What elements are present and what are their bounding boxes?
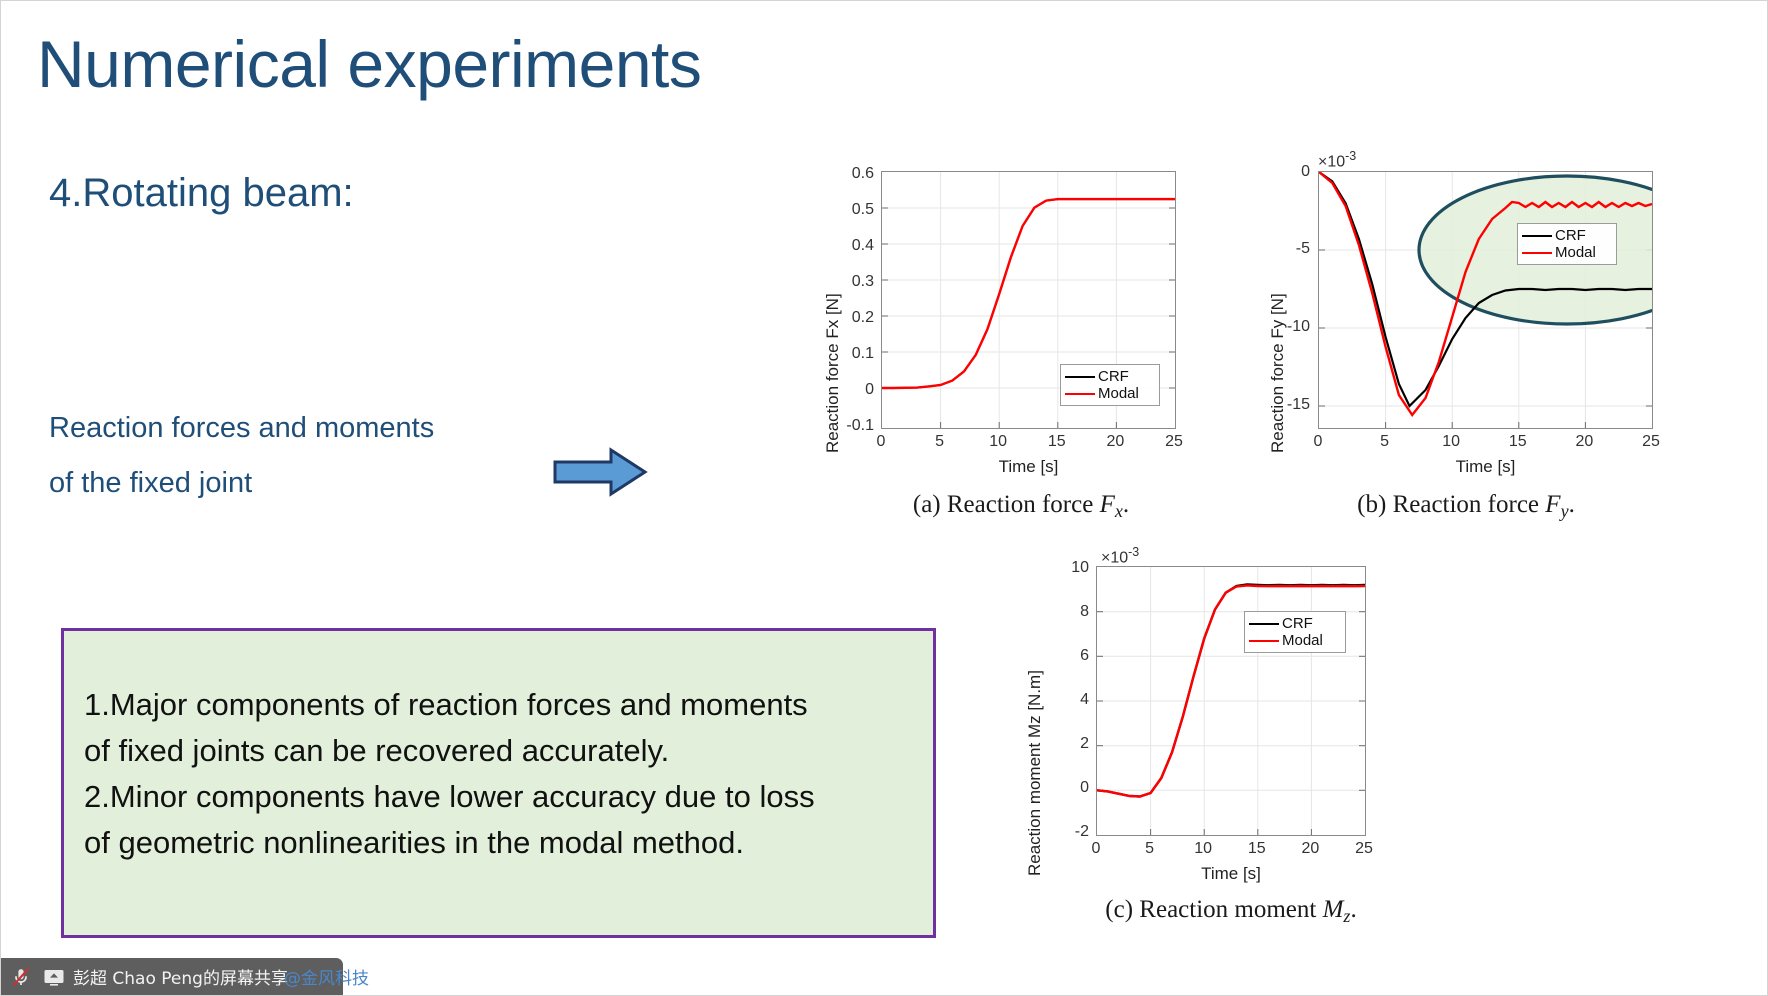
page-title: Numerical experiments	[37, 31, 701, 97]
figure-b-caption-sub: y	[1561, 501, 1569, 521]
figure-b-xtick: 15	[1502, 433, 1534, 451]
figure-a-xtick: 10	[982, 433, 1014, 451]
company-label: @金风科技	[284, 964, 369, 989]
legend-item-modal: Modal	[1522, 244, 1610, 261]
legend-swatch-modal	[1065, 393, 1095, 395]
legend-label-modal: Modal	[1555, 245, 1596, 260]
figure-c-ytick: 10	[1037, 559, 1089, 577]
figure-c-xtick: 20	[1294, 840, 1326, 858]
figure-c-xtick: 15	[1241, 840, 1273, 858]
figure-a-ytick: 0.5	[821, 201, 874, 219]
figure-b-xtick: 20	[1568, 433, 1600, 451]
conclusion-line-2: of fixed joints can be recovered accurat…	[84, 729, 920, 773]
figure-b-xtick: 5	[1369, 433, 1401, 451]
conclusion-line-1: 1.Major components of reaction forces an…	[84, 683, 920, 727]
figure-b-xtick: 0	[1302, 433, 1334, 451]
figure-c-plot-area: CRF Modal	[1096, 566, 1366, 836]
figure-a-ytick: 0.6	[821, 165, 874, 183]
figure-a-series-modal	[882, 199, 1175, 388]
screen-share-bar[interactable]: 彭超 Chao Peng的屏幕共享 @金风科技	[1, 958, 343, 995]
figure-a-plot-area: CRF Modal	[881, 171, 1176, 429]
figure-c-caption-symbol: M	[1323, 896, 1344, 923]
figure-a-xtick: 25	[1158, 433, 1190, 451]
figure-c-ytick: 6	[1037, 647, 1089, 665]
legend-label-modal: Modal	[1282, 633, 1323, 648]
legend-item-modal: Modal	[1065, 385, 1153, 402]
figure-b-ytick: -10	[1264, 318, 1310, 336]
figure-b-xlabel: Time [s]	[1318, 457, 1653, 477]
figure-a-caption: (a) Reaction force Fx.	[801, 491, 1241, 522]
legend-item-crf: CRF	[1249, 615, 1339, 632]
mic-muted-icon[interactable]	[7, 963, 35, 991]
figure-c-ytick: 8	[1037, 603, 1089, 621]
figure-c-xtick: 25	[1348, 840, 1380, 858]
figure-a-xlabel: Time [s]	[881, 457, 1176, 477]
figure-c-xlabel: Time [s]	[1096, 864, 1366, 884]
legend-label-crf: CRF	[1555, 228, 1586, 243]
figure-a-xtick: 15	[1041, 433, 1073, 451]
figure-a-caption-suffix: .	[1123, 491, 1129, 518]
figure-a-ytick: 0.2	[821, 309, 874, 327]
conclusion-line-4: of geometric nonlinearities in the modal…	[84, 821, 920, 865]
left-caption: Reaction forces and moments of the fixed…	[49, 401, 569, 511]
figure-a-caption-symbol: F	[1100, 491, 1115, 518]
figure-a-xtick: 0	[865, 433, 897, 451]
presenter-label: 彭超 Chao Peng的屏幕共享	[73, 964, 288, 989]
legend-swatch-crf	[1065, 376, 1095, 378]
figure-b-y-exponent: ×10-3	[1318, 149, 1356, 171]
figure-c-y-exponent: ×10-3	[1101, 545, 1139, 567]
legend-swatch-modal	[1249, 640, 1279, 642]
conclusion-line-3: 2.Minor components have lower accuracy d…	[84, 775, 920, 819]
section-subtitle: 4.Rotating beam:	[49, 171, 354, 216]
figure-a-legend: CRF Modal	[1060, 364, 1160, 406]
figure-b-legend: CRF Modal	[1517, 223, 1617, 265]
figure-a-xtick: 5	[924, 433, 956, 451]
figure-a-ytick: 0.3	[821, 273, 874, 291]
figure-a-caption-sub: x	[1115, 501, 1123, 521]
figure-a: Reaction force Fx [N] 0.6 0.5 0.4 0.3 0.…	[811, 171, 1231, 491]
figure-a-ytick: 0	[821, 381, 874, 399]
figure-b-caption-suffix: .	[1569, 491, 1575, 518]
figure-c-caption-prefix: (c) Reaction moment	[1105, 896, 1322, 923]
conclusion-text: 1.Major components of reaction forces an…	[84, 683, 920, 867]
figure-b-ytick: -5	[1264, 240, 1310, 258]
figure-c-xtick: 10	[1187, 840, 1219, 858]
figure-c: Reaction moment Mz [N.m] ×10-3 10 8 6 4 …	[1011, 566, 1451, 896]
figure-c-ytick: 4	[1037, 691, 1089, 709]
left-caption-line2: of the fixed joint	[49, 456, 569, 511]
legend-label-modal: Modal	[1098, 386, 1139, 401]
legend-label-crf: CRF	[1098, 369, 1129, 384]
figure-a-ytick: 0.4	[821, 237, 874, 255]
legend-swatch-crf	[1522, 235, 1552, 237]
right-arrow-icon	[553, 447, 648, 497]
figure-b-ytick: -15	[1264, 396, 1310, 414]
presentation-slide: Numerical experiments 4.Rotating beam: R…	[0, 0, 1768, 996]
figure-c-ytick: 2	[1037, 735, 1089, 753]
figure-a-xtick: 20	[1099, 433, 1131, 451]
figure-c-xtick: 0	[1080, 840, 1112, 858]
figure-b-xtick: 25	[1635, 433, 1667, 451]
legend-label-crf: CRF	[1282, 616, 1313, 631]
figure-b-plot-area: CRF Modal	[1318, 171, 1653, 429]
legend-swatch-modal	[1522, 252, 1552, 254]
legend-item-modal: Modal	[1249, 632, 1339, 649]
screen-share-icon[interactable]	[40, 963, 68, 991]
left-caption-line1: Reaction forces and moments	[49, 401, 569, 456]
figure-b-caption: (b) Reaction force Fy.	[1246, 491, 1686, 522]
figure-a-caption-prefix: (a) Reaction force	[913, 491, 1100, 518]
figure-b-caption-prefix: (b) Reaction force	[1357, 491, 1545, 518]
legend-item-crf: CRF	[1522, 227, 1610, 244]
figure-c-legend: CRF Modal	[1244, 611, 1346, 653]
figure-b-ytick: 0	[1264, 163, 1310, 181]
figure-c-ytick: 0	[1037, 779, 1089, 797]
figure-b-caption-symbol: F	[1545, 491, 1560, 518]
conclusion-box: 1.Major components of reaction forces an…	[61, 628, 936, 938]
figure-b: Reaction force Fy [N] ×10-3 0 -5 -10 -15	[1256, 171, 1676, 491]
figure-c-ytick: -2	[1037, 823, 1089, 841]
figure-c-xtick: 5	[1134, 840, 1166, 858]
figure-a-ytick: 0.1	[821, 345, 874, 363]
legend-swatch-crf	[1249, 623, 1279, 625]
figure-b-xtick: 10	[1435, 433, 1467, 451]
figure-a-series-crf	[882, 199, 1175, 388]
figure-c-caption: (c) Reaction moment Mz.	[1011, 896, 1451, 927]
figure-c-caption-suffix: .	[1350, 896, 1356, 923]
legend-item-crf: CRF	[1065, 368, 1153, 385]
